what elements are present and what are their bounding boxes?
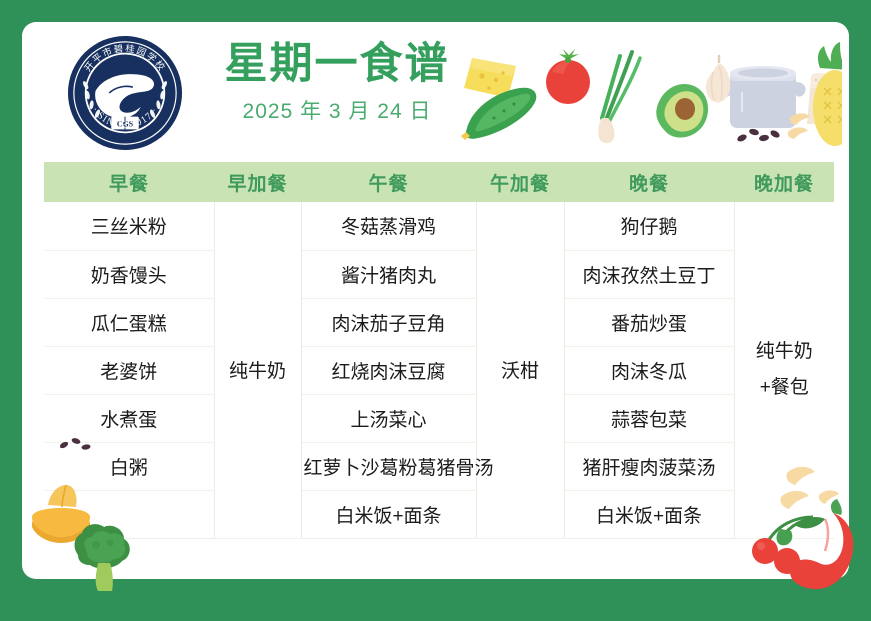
beans-icon: [736, 128, 781, 143]
cell-morning-snack: 纯牛奶: [214, 202, 301, 538]
evening-snack-line-2: +餐包: [737, 370, 833, 406]
cell-breakfast-2: 奶香馒头: [44, 250, 214, 298]
cell-breakfast-6: 白粥: [44, 442, 214, 490]
cell-dinner-6: 猪肝瘦肉菠菜汤: [564, 442, 734, 490]
cell-lunch-6: 红萝卜沙葛粉葛猪骨汤: [301, 442, 476, 490]
table-row: 奶香馒头 酱汁猪肉丸 肉沫孜然土豆丁: [44, 250, 834, 298]
table-row: 白粥 红萝卜沙葛粉葛猪骨汤 猪肝瘦肉菠菜汤: [44, 442, 834, 490]
table-row: 水煮蛋 上汤菜心 蒜蓉包菜: [44, 394, 834, 442]
column-header-morning-snack: 早加餐: [214, 162, 301, 202]
column-header-evening-snack: 晚加餐: [734, 162, 834, 202]
title-block: 星期一食谱 2025 年 3 月 24 日: [202, 40, 472, 125]
menu-date: 2025 年 3 月 24 日: [202, 95, 472, 125]
poster-header: CGS 开平市碧桂园学校 · SINCE 2017 ·: [22, 22, 849, 160]
tomato-icon: [546, 49, 590, 104]
cell-breakfast-4: 老婆饼: [44, 346, 214, 394]
cell-lunch-7: 白米饭+面条: [301, 490, 476, 538]
evening-snack-line-1: 纯牛奶: [737, 334, 833, 370]
cell-dinner-5: 蒜蓉包菜: [564, 394, 734, 442]
cell-dinner-1: 狗仔鹅: [564, 202, 734, 250]
cell-lunch-1: 冬菇蒸滑鸡: [301, 202, 476, 250]
column-header-afternoon-snack: 午加餐: [476, 162, 564, 202]
cell-breakfast-3: 瓜仁蛋糕: [44, 298, 214, 346]
school-seal-logo: CGS 开平市碧桂园学校 · SINCE 2017 ·: [66, 34, 184, 152]
cell-afternoon-snack: 沃柑: [476, 202, 564, 538]
menu-poster: CGS 开平市碧桂园学校 · SINCE 2017 ·: [0, 0, 871, 621]
cell-dinner-7: 白米饭+面条: [564, 490, 734, 538]
cell-lunch-5: 上汤菜心: [301, 394, 476, 442]
avocado-icon: [656, 84, 708, 138]
cell-dinner-3: 番茄炒蛋: [564, 298, 734, 346]
menu-table: 早餐 早加餐 午餐 午加餐 晚餐 晚加餐 三丝米粉 纯牛奶 冬菇蒸滑鸡 沃柑 狗: [44, 162, 834, 539]
table-row: 三丝米粉 纯牛奶 冬菇蒸滑鸡 沃柑 狗仔鹅 纯牛奶 +餐包: [44, 202, 834, 250]
cell-lunch-3: 肉沫茄子豆角: [301, 298, 476, 346]
cell-breakfast-5: 水煮蛋: [44, 394, 214, 442]
cell-dinner-4: 肉沫冬瓜: [564, 346, 734, 394]
table-row: 白米饭+面条 白米饭+面条: [44, 490, 834, 538]
table-header-row: 早餐 早加餐 午餐 午加餐 晚餐 晚加餐: [44, 162, 834, 202]
cell-breakfast-7: [44, 490, 214, 538]
cell-dinner-2: 肉沫孜然土豆丁: [564, 250, 734, 298]
cucumber-icon: [461, 88, 536, 140]
cell-lunch-2: 酱汁猪肉丸: [301, 250, 476, 298]
scallion-icon: [598, 52, 640, 143]
page-title: 星期一食谱: [202, 40, 472, 88]
table-row: 瓜仁蛋糕 肉沫茄子豆角 番茄炒蛋: [44, 298, 834, 346]
column-header-lunch: 午餐: [301, 162, 476, 202]
garlic-icon: [706, 56, 730, 102]
column-header-dinner: 晚餐: [564, 162, 734, 202]
pineapple-icon: [813, 42, 842, 146]
cell-evening-snack: 纯牛奶 +餐包: [734, 202, 834, 538]
food-illustration-strip: [442, 32, 842, 152]
cell-breakfast-1: 三丝米粉: [44, 202, 214, 250]
menu-table-container: 早餐 早加餐 午餐 午加餐 晚餐 晚加餐 三丝米粉 纯牛奶 冬菇蒸滑鸡 沃柑 狗: [44, 162, 834, 539]
column-header-breakfast: 早餐: [44, 162, 214, 202]
cell-lunch-4: 红烧肉沫豆腐: [301, 346, 476, 394]
white-panel: CGS 开平市碧桂园学校 · SINCE 2017 ·: [22, 22, 849, 579]
table-row: 老婆饼 红烧肉沫豆腐 肉沫冬瓜: [44, 346, 834, 394]
